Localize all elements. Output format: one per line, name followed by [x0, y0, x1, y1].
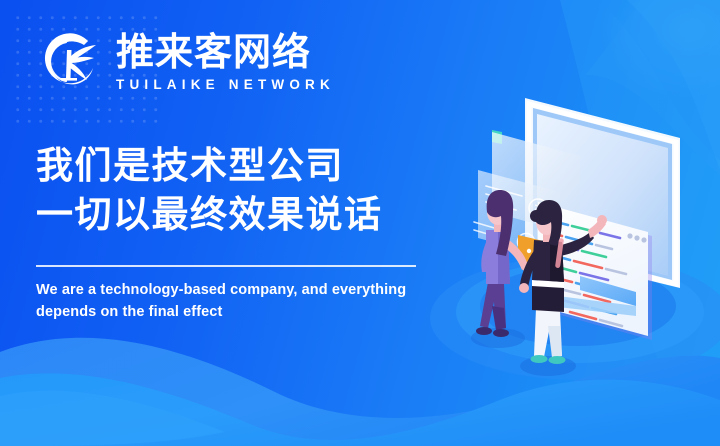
promo-banner: 推来客网络 TUILAIKE NETWORK 我们是技术型公司 一切以最终效果说… — [0, 0, 720, 446]
brand-name-en: TUILAIKE NETWORK — [116, 77, 335, 92]
headline-line-1: 我们是技术型公司 — [36, 142, 383, 191]
tuilaike-circular-k-logo-icon — [36, 28, 104, 96]
subtitle-line-1: We are a technology-based company, and e… — [36, 279, 456, 301]
isometric-monitor-illustration — [430, 60, 720, 380]
brand-logo: 推来客网络 TUILAIKE NETWORK — [36, 28, 335, 96]
headline: 我们是技术型公司 一切以最终效果说话 — [36, 142, 383, 240]
subtitle: We are a technology-based company, and e… — [36, 279, 456, 324]
person-left — [471, 190, 532, 348]
brand-name-cn: 推来客网络 — [116, 34, 335, 74]
headline-line-2: 一切以最终效果说话 — [36, 191, 383, 240]
subtitle-line-2: depends on the final effect — [36, 301, 456, 323]
headline-divider — [36, 265, 416, 267]
person-right — [519, 200, 607, 376]
